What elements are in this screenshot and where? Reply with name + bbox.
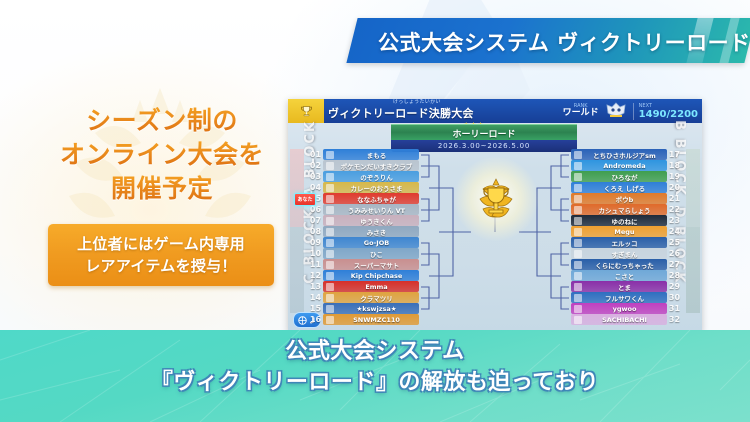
player-name: Go-JOB — [334, 239, 419, 247]
bracket-seat[interactable]: くらにむっちゃった — [571, 259, 667, 270]
player-avatar-icon — [574, 283, 582, 291]
player-name: ゆのねに — [582, 216, 667, 226]
bracket-seat[interactable]: ★kswjzsa★ — [323, 303, 419, 314]
bracket-seat[interactable]: Emma — [323, 281, 419, 292]
player-avatar-icon — [326, 151, 334, 159]
player-avatar-icon — [574, 173, 582, 181]
player-name: ★kswjzsa★ — [334, 305, 419, 313]
subtitle-line-1: 公式大会システム — [0, 336, 750, 367]
block-strip-d — [686, 227, 700, 313]
promo-reward-line-1: 上位者にはゲーム内専用 — [77, 233, 245, 256]
player-avatar-icon — [326, 283, 334, 291]
player-avatar-icon — [326, 162, 334, 170]
rank-value: ワールド — [563, 109, 599, 118]
player-name: Emma — [334, 283, 419, 291]
seat-number: 31 — [668, 303, 681, 314]
seat-number: 15 — [309, 303, 322, 314]
player-avatar-icon — [326, 305, 334, 313]
player-avatar-icon — [574, 294, 582, 302]
subtitle-line-2: 『ヴィクトリーロード』の解放も迫っており — [0, 367, 750, 398]
player-name: フルサワくん — [582, 293, 667, 303]
seat-number: 07 — [309, 215, 322, 226]
bracket-seat[interactable]: Go-JOB — [323, 237, 419, 248]
promo-headline-line-3: 開催予定 — [42, 172, 282, 206]
bracket-seat[interactable]: ygwoo — [571, 303, 667, 314]
bracket-seat[interactable]: ひろなが — [571, 171, 667, 182]
player-avatar-icon — [326, 239, 334, 247]
bracket-seat[interactable]: ゆのねに — [571, 215, 667, 226]
bracket-seat[interactable]: くろえ しげる — [571, 182, 667, 193]
bracket-seat[interactable]: まもる — [323, 149, 419, 160]
final-trophy-emblem — [470, 173, 522, 225]
player-avatar-icon — [326, 206, 334, 214]
seat-number: 04 — [309, 182, 322, 193]
player-avatar-icon — [326, 272, 334, 280]
player-avatar-icon — [574, 272, 582, 280]
bracket-seat[interactable]: こさと — [571, 270, 667, 281]
seat-number: 13 — [309, 281, 322, 292]
bracket-seat[interactable]: のぞうりん — [323, 171, 419, 182]
player-name: カレーのおうさま — [334, 183, 419, 193]
seat-number: 11 — [309, 259, 322, 270]
seat-number: 01 — [309, 149, 322, 160]
bracket-seat[interactable]: みさき — [323, 226, 419, 237]
player-name: SNWMZC110 — [334, 316, 419, 324]
seat-number: 21 — [668, 193, 681, 204]
player-avatar-icon — [574, 195, 582, 203]
player-name: うみみせいりん VT — [334, 205, 419, 215]
seat-number: 10 — [309, 248, 322, 259]
player-avatar-icon — [326, 294, 334, 302]
seat-number: 28 — [668, 270, 681, 281]
player-name: ポウb — [582, 194, 667, 204]
player-name: すぎまん — [582, 249, 667, 259]
player-avatar-icon — [326, 173, 334, 181]
player-name: エルッコ — [582, 238, 667, 248]
seat-number: 03 — [309, 171, 322, 182]
promo-reward-box: 上位者にはゲーム内専用 レアアイテムを授与！ — [48, 224, 274, 286]
seat-number: 19 — [668, 171, 681, 182]
you-marker-badge: あなた — [294, 193, 316, 206]
bracket-seat[interactable]: SNWMZC110 — [323, 314, 419, 325]
seat-number: 24 — [668, 226, 681, 237]
player-avatar-icon — [574, 250, 582, 258]
bracket-seat[interactable]: Andromeda — [571, 160, 667, 171]
player-avatar-icon — [574, 217, 582, 225]
player-name: ポケモンだいすきクラブ — [334, 161, 419, 171]
player-name: SACHIBACHI — [582, 316, 667, 324]
player-name: とま — [582, 282, 667, 292]
screenshot-root: 公式大会システム ヴィクトリーロード シーズン制の オンライン大会を 開催予定 … — [0, 0, 750, 422]
promo-headline-line-1: シーズン制の — [42, 104, 282, 138]
seat-number: 32 — [668, 314, 681, 325]
bracket-seat[interactable]: SACHIBACHI — [571, 314, 667, 325]
player-name: ななふちゃが — [334, 194, 419, 204]
bracket-seat[interactable]: エルッコ — [571, 237, 667, 248]
bracket-seat[interactable]: クラマツリ — [323, 292, 419, 303]
bracket-seat[interactable]: Kip Chipchase — [323, 270, 419, 281]
seat-number: 29 — [668, 281, 681, 292]
player-avatar-icon — [574, 206, 582, 214]
seat-number: 22 — [668, 204, 681, 215]
bracket-seat[interactable]: ポウb — [571, 193, 667, 204]
seat-number: 02 — [309, 160, 322, 171]
player-avatar-icon — [326, 261, 334, 269]
player-name: みさき — [334, 227, 419, 237]
player-avatar-icon — [574, 184, 582, 192]
event-name: ホーリーロード — [452, 127, 515, 140]
player-name: ひこ — [334, 249, 419, 259]
seat-number: 26 — [668, 248, 681, 259]
bracket-seat[interactable]: とま — [571, 281, 667, 292]
player-name: とちひさホルジアsm — [582, 150, 667, 160]
bracket-seat[interactable]: とちひさホルジアsm — [571, 149, 667, 160]
bracket-seat[interactable]: スーパーマサト — [323, 259, 419, 270]
bracket-seat[interactable]: ゆうきくん — [323, 215, 419, 226]
bracket-seat[interactable]: うみみせいりん VT — [323, 204, 419, 215]
player-name: カシュマらしょう — [582, 205, 667, 215]
player-avatar-icon — [326, 217, 334, 225]
bracket-seat[interactable]: フルサワくん — [571, 292, 667, 303]
player-name: Kip Chipchase — [334, 272, 419, 280]
bracket-seat[interactable]: Megu — [571, 226, 667, 237]
player-name: まもる — [334, 150, 419, 160]
bracket-seat[interactable]: すぎまん — [571, 248, 667, 259]
seat-number: 25 — [668, 237, 681, 248]
bracket-seat[interactable]: ポケモンだいすきクラブ — [323, 160, 419, 171]
player-name: スーパーマサト — [334, 260, 419, 270]
seat-number: 30 — [668, 292, 681, 303]
seat-number: 18 — [668, 160, 681, 171]
game-screenshot-panel: けっしょうたいかい ヴィクトリーロード決勝大会 RANK ワールド NEXT 1… — [288, 99, 702, 332]
player-avatar-icon — [574, 316, 582, 324]
seat-number: 16 — [309, 314, 322, 325]
rank-label-group: RANK ワールド — [563, 104, 599, 119]
player-avatar-icon — [574, 261, 582, 269]
player-avatar-icon — [574, 305, 582, 313]
player-name: くらにむっちゃった — [582, 260, 667, 270]
seat-number: 14 — [309, 292, 322, 303]
player-avatar-icon — [326, 316, 334, 324]
player-name: くろえ しげる — [582, 183, 667, 193]
player-avatar-icon — [574, 162, 582, 170]
seat-number: 09 — [309, 237, 322, 248]
player-avatar-icon — [574, 239, 582, 247]
player-name: Andromeda — [582, 162, 667, 170]
bracket-seat[interactable]: カレーのおうさま — [323, 182, 419, 193]
promo-reward-line-2: レアアイテムを授与！ — [85, 255, 237, 278]
next-rank-progress: NEXT 1490/2200 — [633, 103, 698, 120]
player-avatar-icon — [574, 228, 582, 236]
player-name: Megu — [582, 228, 667, 236]
rank-hud: RANK ワールド NEXT 1490/2200 — [563, 100, 698, 122]
promo-headline: シーズン制の オンライン大会を 開催予定 — [42, 104, 282, 206]
player-name: ygwoo — [582, 305, 667, 313]
header-banner-title: 公式大会システム ヴィクトリーロード — [378, 27, 738, 57]
next-value: 1490/2200 — [639, 109, 698, 120]
player-avatar-icon — [326, 184, 334, 192]
player-avatar-icon — [326, 195, 334, 203]
player-name: クラマツリ — [334, 293, 419, 303]
subtitle-text: 公式大会システム 『ヴィクトリーロード』の解放も迫っており — [0, 336, 750, 398]
event-date-range: 2026.3.00~2026.5.00 — [438, 142, 530, 150]
seat-number: 20 — [668, 182, 681, 193]
promo-headline-line-2: オンライン大会を — [42, 138, 282, 172]
player-avatar-icon — [326, 228, 334, 236]
bracket-seat[interactable]: ななふちゃが — [323, 193, 419, 204]
seat-number: 08 — [309, 226, 322, 237]
seat-number: 17 — [668, 149, 681, 160]
player-name: ひろなが — [582, 172, 667, 182]
player-name: こさと — [582, 271, 667, 281]
block-strip-b — [686, 149, 700, 227]
seat-number: 23 — [668, 215, 681, 226]
bracket-seat[interactable]: ひこ — [323, 248, 419, 259]
player-name: のぞうりん — [334, 172, 419, 182]
player-name: ゆうきくん — [334, 216, 419, 226]
player-avatar-icon — [574, 151, 582, 159]
game-title: ヴィクトリーロード決勝大会 — [328, 105, 474, 121]
seat-number: 12 — [309, 270, 322, 281]
seat-number: 27 — [668, 259, 681, 270]
player-avatar-icon — [326, 250, 334, 258]
crest-icon — [603, 102, 629, 121]
bracket-seat[interactable]: カシュマらしょう — [571, 204, 667, 215]
